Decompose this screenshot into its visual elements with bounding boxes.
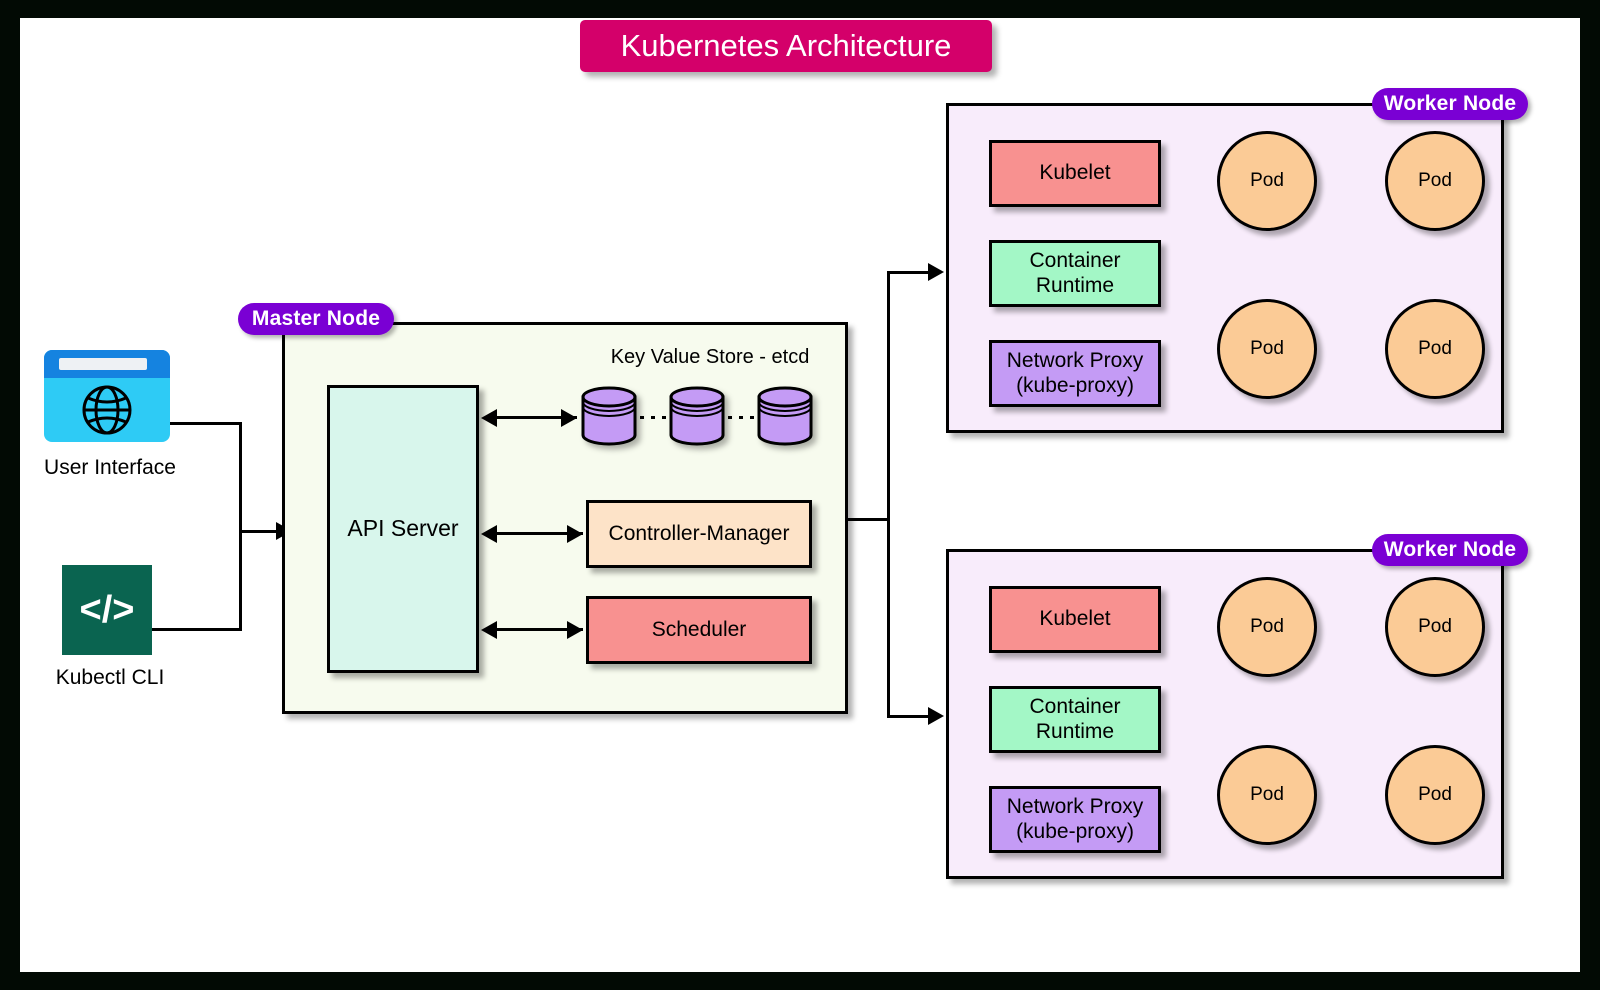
pod-circle[interactable]: Pod [1385, 131, 1485, 231]
connector-cli-horizontal [152, 628, 242, 631]
worker-node-2-label: Worker Node [1372, 534, 1528, 566]
diagram-frame: Kubernetes Architecture User Interface <… [0, 0, 1600, 990]
connector-client-trunk [239, 422, 242, 631]
etcd-link-dotted [640, 416, 668, 419]
pod-circle[interactable]: Pod [1385, 299, 1485, 399]
user-interface-label: User Interface [20, 456, 200, 480]
pod-circle[interactable]: Pod [1217, 131, 1317, 231]
etcd-link-dotted [728, 416, 756, 419]
pod-circle[interactable]: Pod [1385, 745, 1485, 845]
kubelet-box[interactable]: Kubelet [989, 140, 1161, 207]
browser-titlebar [44, 350, 170, 378]
browser-address-bar [59, 358, 147, 370]
master-node-label: Master Node [238, 303, 394, 335]
page-title: Kubernetes Architecture [580, 20, 992, 72]
pod-circle[interactable]: Pod [1217, 745, 1317, 845]
worker-node-1-label: Worker Node [1372, 88, 1528, 120]
worker-node-2-panel: Kubelet ContainerRuntime Network Proxy(k… [946, 549, 1504, 879]
worker-node-1-panel: Kubelet ContainerRuntime Network Proxy(k… [946, 103, 1504, 433]
etcd-cylinder[interactable] [580, 385, 638, 447]
controller-manager-box[interactable]: Controller-Manager [586, 500, 812, 568]
network-proxy-box[interactable]: Network Proxy(kube-proxy) [989, 340, 1161, 407]
pod-circle[interactable]: Pod [1385, 577, 1485, 677]
kubelet-box[interactable]: Kubelet [989, 586, 1161, 653]
etcd-title-label: Key Value Store - etcd [560, 346, 860, 369]
etcd-cylinder[interactable] [756, 385, 814, 447]
arrowhead-api-scheduler-right [567, 621, 583, 639]
connector-ui-horizontal [170, 422, 242, 425]
api-server-box[interactable]: API Server [327, 385, 479, 673]
connector-master-exit [846, 518, 890, 521]
scheduler-box[interactable]: Scheduler [586, 596, 812, 664]
arrowhead-api-controller-right [567, 525, 583, 543]
network-proxy-box[interactable]: Network Proxy(kube-proxy) [989, 786, 1161, 853]
container-runtime-box[interactable]: ContainerRuntime [989, 240, 1161, 307]
arrowhead-api-scheduler-left [481, 621, 497, 639]
kubectl-cli-label: Kubectl CLI [20, 666, 200, 690]
code-brackets-icon[interactable]: </> [62, 565, 152, 655]
globe-glyph [44, 378, 170, 442]
arrowhead-api-etcd-left [481, 409, 497, 427]
pod-circle[interactable]: Pod [1217, 577, 1317, 677]
arrowhead-api-controller-left [481, 525, 497, 543]
connector-worker-trunk [887, 271, 890, 718]
diagram-canvas: Kubernetes Architecture User Interface <… [20, 18, 1580, 972]
etcd-cylinder[interactable] [668, 385, 726, 447]
arrowhead-api-etcd-right [561, 409, 577, 427]
arrowhead-to-worker-2 [928, 707, 944, 725]
arrowhead-to-worker-1 [928, 263, 944, 281]
container-runtime-box[interactable]: ContainerRuntime [989, 686, 1161, 753]
pod-circle[interactable]: Pod [1217, 299, 1317, 399]
browser-globe-icon[interactable] [44, 350, 170, 442]
